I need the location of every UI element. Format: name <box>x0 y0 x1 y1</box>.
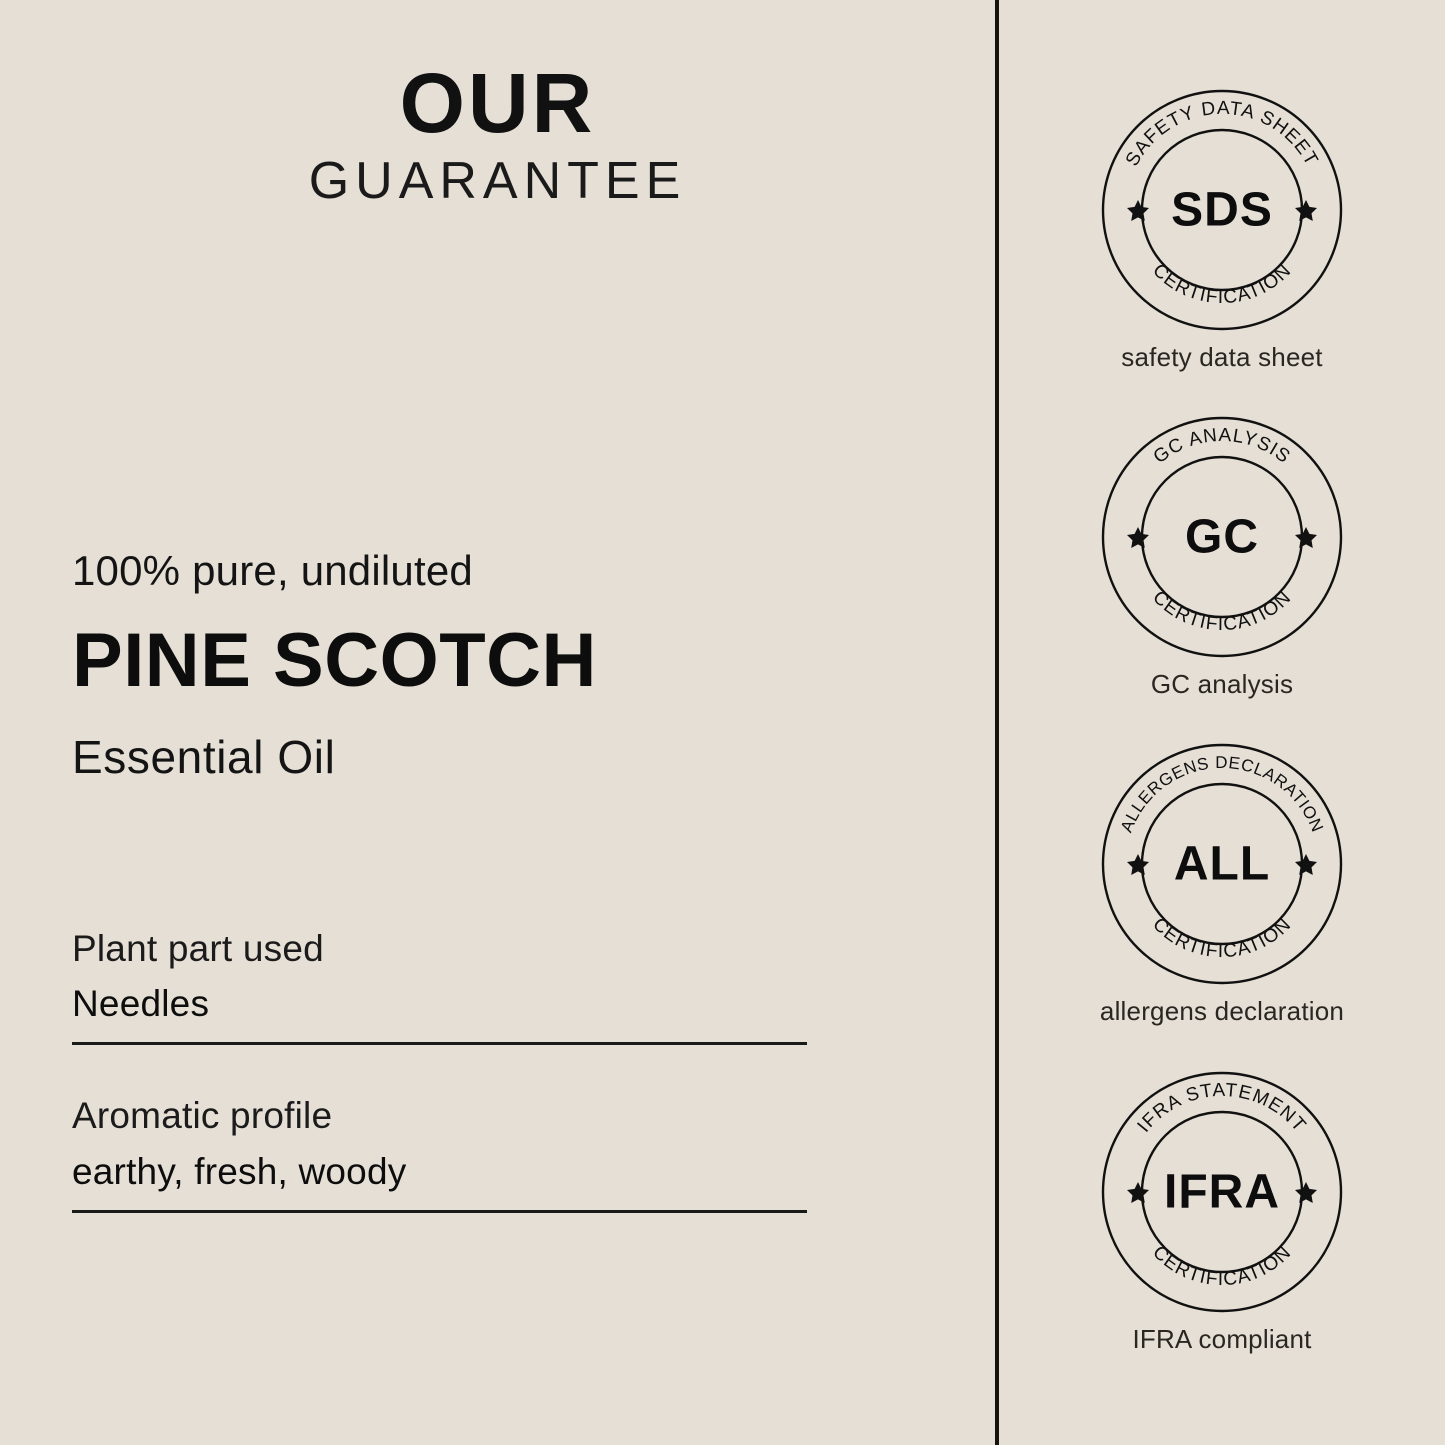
attribute-list: Plant part used Needles Aromatic profile… <box>72 926 807 1213</box>
seal-bottom-text: CERTIFICATION <box>1148 587 1295 635</box>
seal-top-text: SAFETY DATA SHEET <box>1122 98 1322 170</box>
page-title: OUR GUARANTEE <box>0 62 995 220</box>
seal-bottom-text: CERTIFICATION <box>1148 260 1295 308</box>
svg-text:SAFETY DATA SHEET: SAFETY DATA SHEET <box>1122 98 1322 170</box>
badge-caption: safety data sheet <box>1121 342 1322 373</box>
attribute-label: Aromatic profile <box>72 1093 807 1139</box>
star-icon <box>1127 854 1149 875</box>
badge-item: ALLERGENS DECLARATION CERTIFICATION ALL … <box>999 742 1445 1027</box>
svg-text:CERTIFICATION: CERTIFICATION <box>1148 1242 1295 1290</box>
right-panel: SAFETY DATA SHEET CERTIFICATION SDS safe… <box>999 0 1445 1445</box>
seal-icon: IFRA STATEMENT CERTIFICATION IFRA <box>1100 1070 1344 1314</box>
attribute-value: earthy, fresh, woody <box>72 1148 807 1196</box>
star-icon <box>1295 1182 1317 1203</box>
seal-icon: GC ANALYSIS CERTIFICATION GC <box>1100 415 1344 659</box>
attribute-label: Plant part used <box>72 926 807 972</box>
star-icon <box>1127 527 1149 548</box>
seal-center-text: SDS <box>1171 184 1273 237</box>
svg-text:ALLERGENS DECLARATION: ALLERGENS DECLARATION <box>1117 753 1327 835</box>
seal-icon: ALLERGENS DECLARATION CERTIFICATION ALL <box>1100 742 1344 986</box>
product-purity: 100% pure, undiluted <box>72 546 872 596</box>
badge-item: SAFETY DATA SHEET CERTIFICATION SDS safe… <box>999 88 1445 373</box>
attribute-row-plant-part: Plant part used Needles <box>72 926 807 1045</box>
seal-center-text: ALL <box>1174 838 1270 891</box>
star-icon <box>1127 1182 1149 1203</box>
badge-caption: allergens declaration <box>1100 996 1344 1027</box>
seal-bottom-text: CERTIFICATION <box>1148 1242 1295 1290</box>
badge-caption: IFRA compliant <box>1132 1324 1311 1355</box>
attribute-divider <box>72 1042 807 1045</box>
svg-text:CERTIFICATION: CERTIFICATION <box>1148 587 1295 635</box>
product-block: 100% pure, undiluted PINE SCOTCH Essenti… <box>72 546 872 785</box>
badge-item: GC ANALYSIS CERTIFICATION GC GC analysis <box>999 415 1445 700</box>
attribute-divider <box>72 1210 807 1213</box>
badge-caption: GC analysis <box>1151 669 1293 700</box>
seal-bottom-text: CERTIFICATION <box>1148 914 1295 962</box>
product-name: PINE SCOTCH <box>72 618 872 703</box>
seal-icon: SAFETY DATA SHEET CERTIFICATION SDS <box>1100 88 1344 332</box>
product-type: Essential Oil <box>72 730 872 785</box>
guarantee-page: OUR GUARANTEE 100% pure, undiluted PINE … <box>0 0 1445 1445</box>
seal-top-text: GC ANALYSIS <box>1150 425 1295 468</box>
svg-text:CERTIFICATION: CERTIFICATION <box>1148 260 1295 308</box>
star-icon <box>1295 527 1317 548</box>
seal-top-text: ALLERGENS DECLARATION <box>1117 753 1327 835</box>
left-panel: OUR GUARANTEE 100% pure, undiluted PINE … <box>0 0 995 1445</box>
attribute-row-aromatic-profile: Aromatic profile earthy, fresh, woody <box>72 1093 807 1212</box>
svg-text:IFRA STATEMENT: IFRA STATEMENT <box>1134 1079 1311 1136</box>
attribute-value: Needles <box>72 980 807 1028</box>
seal-center-text: GC <box>1185 511 1259 564</box>
certification-badge-list: SAFETY DATA SHEET CERTIFICATION SDS safe… <box>999 88 1445 1355</box>
star-icon <box>1127 200 1149 221</box>
seal-top-text: IFRA STATEMENT <box>1134 1079 1311 1136</box>
svg-text:GC ANALYSIS: GC ANALYSIS <box>1150 425 1295 468</box>
star-icon <box>1295 200 1317 221</box>
seal-center-text: IFRA <box>1164 1165 1280 1218</box>
svg-text:CERTIFICATION: CERTIFICATION <box>1148 914 1295 962</box>
badge-item: IFRA STATEMENT CERTIFICATION IFRA IFRA c… <box>999 1070 1445 1355</box>
page-title-line-2: GUARANTEE <box>0 144 995 219</box>
page-title-line-1: OUR <box>0 62 995 144</box>
star-icon <box>1295 854 1317 875</box>
